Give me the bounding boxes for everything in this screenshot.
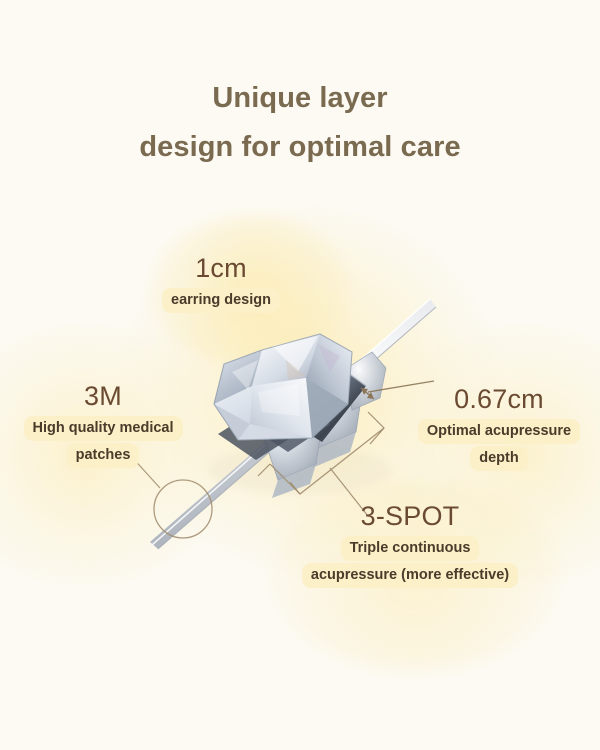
callout-sub-3m: High quality medical patches [6,416,200,468]
callout-value-067cm: 0.67cm [404,383,594,415]
callout-sub-3spot: Triple continuous acupressure (more effe… [280,536,540,588]
callout-sub-067cm: Optimal acupressure depth [404,419,594,471]
callout-value-3m: 3M [6,380,200,412]
callout-sub-line: Triple continuous [341,536,480,561]
callout-sub-line: Optimal acupressure [418,419,580,444]
callout-earring-design: 1cm earring design [140,252,302,313]
callout-three-spot: 3-SPOT Triple continuous acupressure (mo… [280,500,540,588]
callout-value-3spot: 3-SPOT [280,500,540,532]
callout-value-1cm: 1cm [140,252,302,284]
callout-medical-patches: 3M High quality medical patches [6,380,200,468]
infographic-poster: Unique layer design for optimal care [0,0,600,750]
callout-sub-line: High quality medical [24,416,183,441]
callout-sub-line: depth [470,446,527,471]
callout-sub-line: acupressure (more effective) [302,563,518,588]
callout-sub-line: earring design [162,288,280,313]
product-illustration [0,0,600,750]
callout-sub-1cm: earring design [140,288,302,313]
callout-acupressure-depth: 0.67cm Optimal acupressure depth [404,383,594,471]
callout-sub-line: patches [67,443,140,468]
